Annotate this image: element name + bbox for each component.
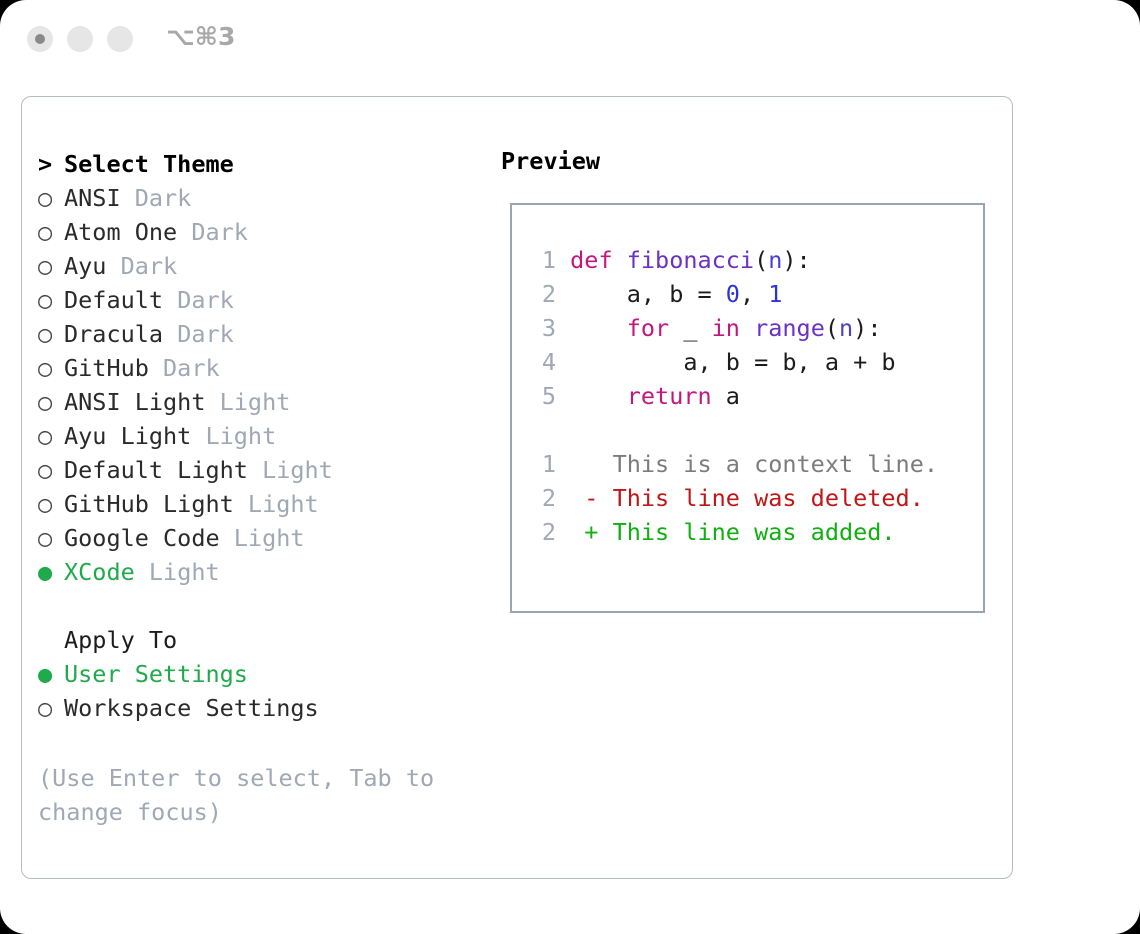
radio-empty-icon: ○ — [38, 351, 64, 385]
theme-name: Ayu Light — [64, 422, 191, 450]
code-token: in — [712, 314, 740, 342]
theme-list-item[interactable]: ○GitHub Dark — [38, 351, 478, 385]
code-token — [570, 382, 627, 410]
code-token: ( — [754, 246, 768, 274]
radio-empty-icon: ○ — [38, 181, 64, 215]
theme-variant-badge: Dark — [149, 354, 220, 382]
theme-name: Default Light — [64, 456, 248, 484]
theme-name: ANSI — [64, 184, 121, 212]
record-indicator-icon — [35, 34, 45, 44]
theme-variant-badge: Light — [234, 490, 319, 518]
code-token: for — [627, 314, 669, 342]
radio-empty-icon: ○ — [38, 317, 64, 351]
code-line: 4 a, b = b, a + b — [532, 345, 972, 379]
theme-variant-badge: Dark — [163, 286, 234, 314]
code-token: 1 — [768, 280, 782, 308]
code-diff-spacer — [532, 413, 972, 447]
apply-to-option[interactable]: ○Workspace Settings — [38, 691, 478, 725]
radio-empty-icon: ○ — [38, 453, 64, 487]
theme-list-item[interactable]: ○Ayu Dark — [38, 249, 478, 283]
theme-name: XCode — [64, 558, 135, 586]
theme-name: GitHub — [64, 354, 149, 382]
apply-to-option-label: User Settings — [64, 660, 248, 688]
spacer — [38, 589, 478, 623]
theme-variant-badge: Dark — [163, 320, 234, 348]
line-number: 1 — [532, 243, 556, 277]
preview-box: 1 def fibonacci(n):2 a, b = 0, 13 for _ … — [510, 203, 985, 613]
theme-list-item[interactable]: ○GitHub Light Light — [38, 487, 478, 521]
theme-name: ANSI Light — [64, 388, 205, 416]
diff-line-text: + This line was added. — [556, 518, 896, 546]
keyboard-shortcut-label: ⌥⌘3 — [166, 22, 235, 51]
theme-variant-badge: Dark — [177, 218, 248, 246]
theme-variant-badge: Light — [191, 422, 276, 450]
theme-name: Default — [64, 286, 163, 314]
app-window: ⌥⌘3 >Select Theme ○ANSI Dark○Atom One Da… — [0, 0, 1140, 934]
line-number: 5 — [532, 379, 556, 413]
theme-name: GitHub Light — [64, 490, 234, 518]
line-number: 1 — [532, 447, 556, 481]
theme-variant-badge: Dark — [106, 252, 177, 280]
theme-name: Dracula — [64, 320, 163, 348]
theme-list-item[interactable]: ○ANSI Dark — [38, 181, 478, 215]
radio-empty-icon: ○ — [38, 487, 64, 521]
code-token: range — [754, 314, 825, 342]
theme-name: Ayu — [64, 252, 106, 280]
theme-list-item[interactable]: ○Google Code Light — [38, 521, 478, 555]
apply-to-indent — [38, 623, 64, 657]
theme-variant-badge: Light — [220, 524, 305, 552]
code-token: , — [740, 280, 768, 308]
diff-line-text: - This line was deleted. — [556, 484, 924, 512]
apply-to-label: Apply To — [64, 626, 177, 654]
code-token — [740, 314, 754, 342]
preview-title: Preview — [501, 147, 600, 175]
code-line: 2 a, b = 0, 1 — [532, 277, 972, 311]
theme-variant-badge: Light — [205, 388, 290, 416]
theme-list-item[interactable]: ○ANSI Light Light — [38, 385, 478, 419]
traffic-light-two-icon[interactable] — [67, 26, 93, 52]
code-token: def — [570, 246, 627, 274]
apply-to-label-row: Apply To — [38, 623, 478, 657]
theme-picker-title: >Select Theme — [38, 147, 478, 181]
prompt-marker: > — [38, 147, 64, 181]
radio-empty-icon: ○ — [38, 521, 64, 555]
theme-variant-badge: Light — [135, 558, 220, 586]
radio-empty-icon: ○ — [38, 691, 64, 725]
code-token: n — [839, 314, 853, 342]
theme-list-item[interactable]: ○Default Dark — [38, 283, 478, 317]
theme-variant-badge: Dark — [121, 184, 192, 212]
apply-to-option[interactable]: ●User Settings — [38, 657, 478, 691]
code-token: fibonacci — [627, 246, 754, 274]
line-number: 2 — [532, 277, 556, 311]
code-token — [570, 314, 627, 342]
theme-list: ○ANSI Dark○Atom One Dark○Ayu Dark○Defaul… — [38, 181, 478, 589]
line-number: 4 — [532, 345, 556, 379]
code-token: ): — [853, 314, 881, 342]
diff-line: 1 This is a context line. — [532, 447, 972, 481]
radio-empty-icon: ○ — [38, 283, 64, 317]
diff-line: 2 + This line was added. — [532, 515, 972, 549]
code-preview: 1 def fibonacci(n):2 a, b = 0, 13 for _ … — [532, 243, 972, 549]
code-token: a, b = — [570, 280, 726, 308]
theme-name: Atom One — [64, 218, 177, 246]
code-token: a — [712, 382, 740, 410]
code-token: 0 — [726, 280, 740, 308]
code-line: 5 return a — [532, 379, 972, 413]
code-token: a, b = b, a + b — [570, 348, 895, 376]
line-number: 3 — [532, 311, 556, 345]
code-token: ): — [782, 246, 810, 274]
radio-empty-icon: ○ — [38, 215, 64, 249]
radio-filled-icon: ● — [38, 555, 64, 589]
radio-filled-icon: ● — [38, 657, 64, 691]
theme-picker: >Select Theme ○ANSI Dark○Atom One Dark○A… — [38, 147, 478, 725]
line-number: 2 — [532, 515, 556, 549]
diff-line-text: This is a context line. — [556, 450, 938, 478]
code-token: return — [627, 382, 712, 410]
code-token: ( — [825, 314, 839, 342]
code-token: _ — [669, 314, 711, 342]
theme-variant-badge: Light — [248, 456, 333, 484]
code-line: 1 def fibonacci(n): — [532, 243, 972, 277]
apply-to-options: ●User Settings○Workspace Settings — [38, 657, 478, 725]
traffic-light-three-icon[interactable] — [107, 26, 133, 52]
theme-list-item[interactable]: ○Ayu Light Light — [38, 419, 478, 453]
diff-line: 2 - This line was deleted. — [532, 481, 972, 515]
radio-empty-icon: ○ — [38, 385, 64, 419]
code-token: n — [768, 246, 782, 274]
theme-list-item[interactable]: ○Dracula Dark — [38, 317, 478, 351]
radio-empty-icon: ○ — [38, 419, 64, 453]
line-number: 2 — [532, 481, 556, 515]
theme-name: Google Code — [64, 524, 220, 552]
code-line: 3 for _ in range(n): — [532, 311, 972, 345]
theme-list-item[interactable]: ●XCode Light — [38, 555, 478, 589]
theme-list-item[interactable]: ○Default Light Light — [38, 453, 478, 487]
traffic-light-record-icon[interactable] — [27, 26, 53, 52]
title-bar: ⌥⌘3 — [0, 0, 1140, 78]
keyboard-hint: (Use Enter to select, Tab to change focu… — [38, 761, 458, 829]
theme-list-item[interactable]: ○Atom One Dark — [38, 215, 478, 249]
apply-to-option-label: Workspace Settings — [64, 694, 319, 722]
page-title: Select Theme — [64, 150, 234, 178]
content-panel: >Select Theme ○ANSI Dark○Atom One Dark○A… — [21, 96, 1013, 879]
radio-empty-icon: ○ — [38, 249, 64, 283]
